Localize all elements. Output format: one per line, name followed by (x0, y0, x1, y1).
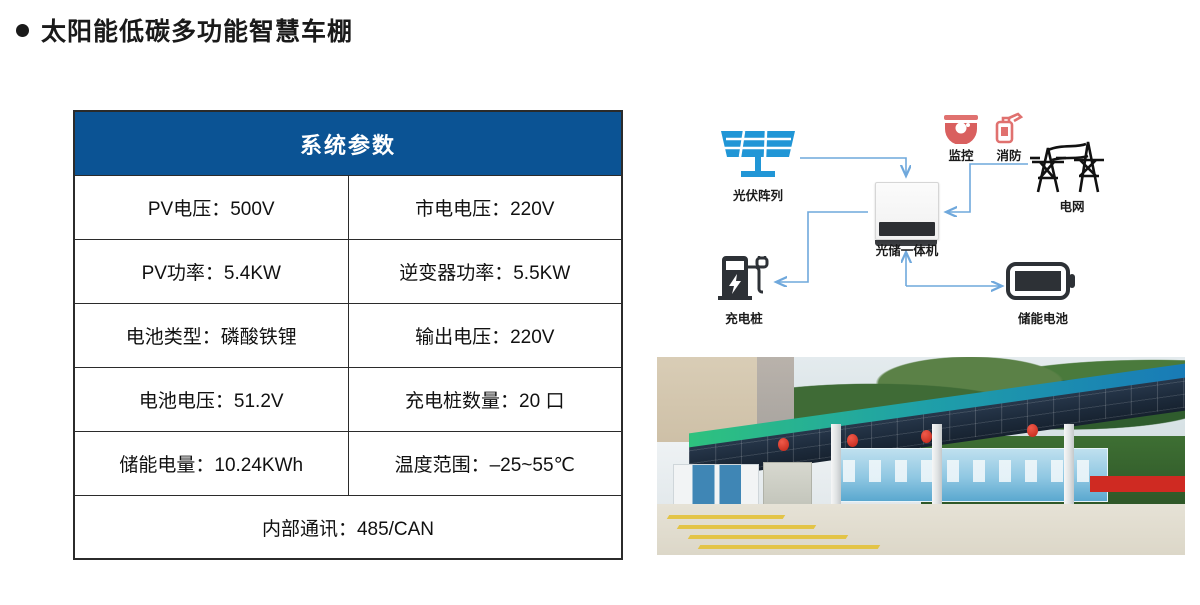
photo-cabinet-grey (763, 462, 813, 508)
table-row: PV电压：500V 市电电压：220V (74, 176, 622, 240)
spec-cell-pv-voltage: PV电压：500V (74, 176, 348, 240)
spec-cell-inverter-power: 逆变器功率：5.5KW (348, 240, 622, 304)
spec-cell-internal-comm: 内部通讯：485/CAN (74, 496, 622, 560)
diagram-label-grid: 电网 (1025, 196, 1119, 215)
table-row: 电池电压：51.2V 充电桩数量：20 口 (74, 368, 622, 432)
spec-cell-storage-capacity: 储能电量：10.24KWh (74, 432, 348, 496)
spec-cell-charger-count: 充电桩数量：20 口 (348, 368, 622, 432)
photo-cabinet-blue (673, 464, 759, 506)
table-header-row: 系统参数 (74, 111, 622, 176)
photo-lantern (1027, 424, 1038, 437)
photo-parking-stripe (687, 535, 848, 539)
diagram-label-charger: 充电桩 (702, 308, 786, 327)
table-header-label: 系统参数 (300, 133, 396, 158)
table-row: 储能电量：10.24KWh 温度范围：–25~55℃ (74, 432, 622, 496)
photo-parking-stripe (698, 545, 880, 549)
table-header-cell: 系统参数 (74, 111, 622, 176)
inverter-cabinet-icon (875, 182, 937, 246)
page-title-row: 太阳能低碳多功能智慧车棚 (16, 12, 353, 48)
spec-cell-battery-voltage: 电池电压：51.2V (74, 368, 348, 432)
spec-cell-output-voltage: 输出电压：220V (348, 304, 622, 368)
system-parameters-table: 系统参数 PV电压：500V 市电电压：220V PV功率：5.4KW 逆变器功… (73, 110, 623, 560)
table-row: PV功率：5.4KW 逆变器功率：5.5KW (74, 240, 622, 304)
diagram-label-pv: 光伏阵列 (698, 185, 818, 204)
carport-photo (657, 357, 1185, 555)
spec-cell-battery-type: 电池类型：磷酸铁锂 (74, 304, 348, 368)
photo-red-banner (1090, 476, 1185, 492)
diagram-label-inverter: 光储一体机 (855, 240, 959, 259)
spec-cell-grid-voltage: 市电电压：220V (348, 176, 622, 240)
spec-cell-pv-power: PV功率：5.4KW (74, 240, 348, 304)
bullet-dot-icon (16, 24, 29, 37)
table-row: 内部通讯：485/CAN (74, 496, 622, 560)
photo-parking-stripe (677, 525, 817, 529)
diagram-label-battery: 储能电池 (990, 308, 1096, 327)
spec-cell-temperature-range: 温度范围：–25~55℃ (348, 432, 622, 496)
table-row: 电池类型：磷酸铁锂 输出电压：220V (74, 304, 622, 368)
photo-parking-stripe (666, 515, 785, 519)
page-title: 太阳能低碳多功能智慧车棚 (41, 12, 353, 48)
system-flow-diagram: 光伏阵列 监控 消防 (650, 100, 1195, 350)
